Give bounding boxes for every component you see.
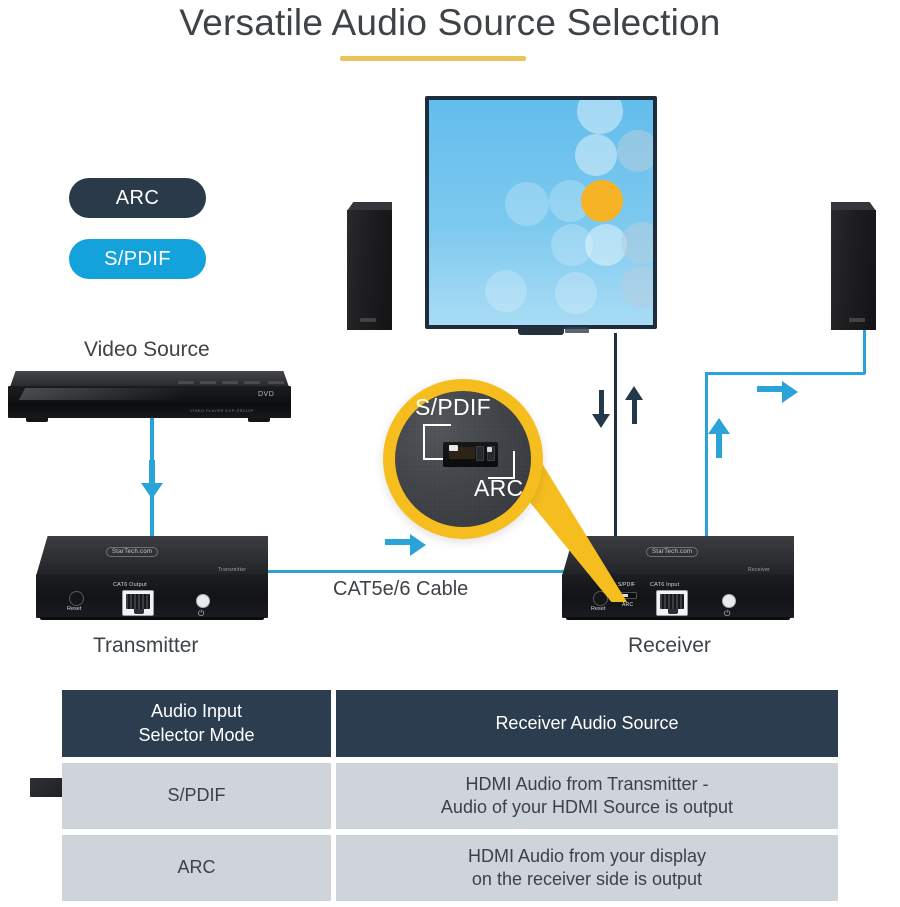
receiver-reset-label: Reset <box>591 606 605 612</box>
table-cell-mode: ARC <box>62 835 331 901</box>
page-title: Versatile Audio Source Selection <box>0 2 900 44</box>
audio-source-table: Audio Input Selector Mode Receiver Audio… <box>62 690 838 907</box>
table-row: ARC HDMI Audio from your display on the … <box>62 835 838 901</box>
transmitter-power-led <box>196 594 210 608</box>
dvd-button <box>222 381 238 384</box>
badge-spdif: S/PDIF <box>69 239 206 279</box>
arrow-stem <box>716 432 722 458</box>
arrow-stem <box>149 460 155 484</box>
power-icon: ⏻ <box>198 610 204 618</box>
dvd-button-row <box>178 381 288 384</box>
transmitter-rj45-port <box>122 590 154 616</box>
speaker-front-face <box>347 210 392 330</box>
dvd-button <box>200 381 216 384</box>
receiver-side-tag: Receiver <box>748 567 770 573</box>
screen-bokeh-circle <box>621 266 653 308</box>
table-cell-source: HDMI Audio from Transmitter - Audio of y… <box>336 763 838 829</box>
arrow-right-icon <box>410 534 426 556</box>
receiver-switch-top-label: S/PDIF <box>618 582 635 588</box>
transmitter-base-lip <box>40 617 264 620</box>
receiver-brand-logo: StarTech.com <box>646 547 698 557</box>
transmitter-port-label: CAT6 Output <box>113 582 147 588</box>
arrow-down-icon <box>141 483 163 499</box>
table-header-mode: Audio Input Selector Mode <box>62 690 331 757</box>
screen-bokeh-circle <box>621 222 653 264</box>
dip-switch-pin <box>476 446 484 461</box>
table-cell-source-line1: HDMI Audio from Transmitter - <box>441 773 733 796</box>
transmitter-reset-label: Reset <box>67 606 81 612</box>
transmitter-reset-button[interactable] <box>69 591 84 606</box>
speaker-logo <box>849 318 865 322</box>
table-row: S/PDIF HDMI Audio from Transmitter - Aud… <box>62 763 838 829</box>
screen-bokeh-circle <box>575 134 617 176</box>
dvd-button <box>244 381 260 384</box>
arrow-stem <box>757 386 783 392</box>
dvd-foot <box>26 418 48 422</box>
arrow-down-icon <box>592 414 610 428</box>
receiver-power-led <box>722 594 736 608</box>
tv-brand-plate <box>565 327 589 333</box>
transmitter-label: Transmitter <box>93 634 198 658</box>
cat5e6-cable-label: CAT5e/6 Cable <box>333 578 468 601</box>
dvd-button <box>178 381 194 384</box>
link-cat5e6-cable <box>262 570 567 573</box>
receiver-base-lip <box>566 617 790 620</box>
screen-bokeh-circle <box>577 100 623 134</box>
dip-switch-lever <box>449 445 458 451</box>
dvd-player-front <box>8 386 291 418</box>
link-receiver-to-speaker-vertical <box>705 372 708 540</box>
screen-bokeh-highlight <box>581 180 623 222</box>
screen-bokeh-circle <box>617 130 653 172</box>
table-cell-source: HDMI Audio from your display on the rece… <box>336 835 838 901</box>
dvd-model-text: VIDEO PLAYER DVP-SR210P <box>190 408 254 413</box>
speaker-front-face <box>831 210 876 330</box>
table-header-row: Audio Input Selector Mode Receiver Audio… <box>62 690 838 757</box>
arrow-up-icon <box>708 418 730 434</box>
magnifier-label-arc: ARC <box>474 475 523 502</box>
arrow-stem <box>599 390 604 416</box>
table-cell-source-line2: Audio of your HDMI Source is output <box>441 796 733 819</box>
table-header-mode-line1: Audio Input <box>138 700 254 723</box>
screen-bokeh-circle <box>485 270 527 312</box>
badge-arc: ARC <box>69 178 206 218</box>
title-underline-accent <box>340 56 526 61</box>
video-source-label: Video Source <box>84 338 210 362</box>
screen-bokeh-circle <box>505 182 549 226</box>
link-speaker-drop <box>863 330 866 374</box>
arrow-up-icon <box>625 386 643 400</box>
receiver-port-label: CAT6 Input <box>650 582 679 588</box>
power-icon: ⏻ <box>724 610 730 618</box>
transmitter-brand-logo: StarTech.com <box>106 547 158 557</box>
dvd-logo: DVD <box>258 391 274 398</box>
arrow-right-icon <box>782 381 798 403</box>
table-header-mode-line2: Selector Mode <box>138 724 254 747</box>
dvd-button <box>268 381 284 384</box>
link-receiver-to-speaker-horizontal <box>705 372 865 375</box>
diagram-canvas: Versatile Audio Source Selection ARC S/P… <box>0 0 900 900</box>
transmitter-side-tag: Transmitter <box>218 567 246 573</box>
magnifier-label-spdif: S/PDIF <box>415 394 491 421</box>
table-cell-mode: S/PDIF <box>62 763 331 829</box>
receiver-rj45-port <box>656 590 688 616</box>
arrow-stem <box>385 539 411 545</box>
receiver-switch-bottom-label: ARC <box>622 602 633 608</box>
table-cell-source-line2: on the receiver side is output <box>468 868 706 891</box>
speaker-logo <box>360 318 376 322</box>
tv-screen <box>429 100 653 325</box>
table-cell-source-line1: HDMI Audio from your display <box>468 845 706 868</box>
screen-bokeh-circle <box>555 272 597 314</box>
table-header-source: Receiver Audio Source <box>336 690 838 757</box>
dvd-player-top <box>10 371 289 387</box>
tv-stand <box>518 327 564 335</box>
arrow-stem <box>632 398 637 424</box>
receiver-label: Receiver <box>628 634 711 658</box>
link-receiver-to-display <box>614 333 617 540</box>
dip-switch-marker <box>487 447 492 452</box>
dvd-foot <box>248 418 270 422</box>
